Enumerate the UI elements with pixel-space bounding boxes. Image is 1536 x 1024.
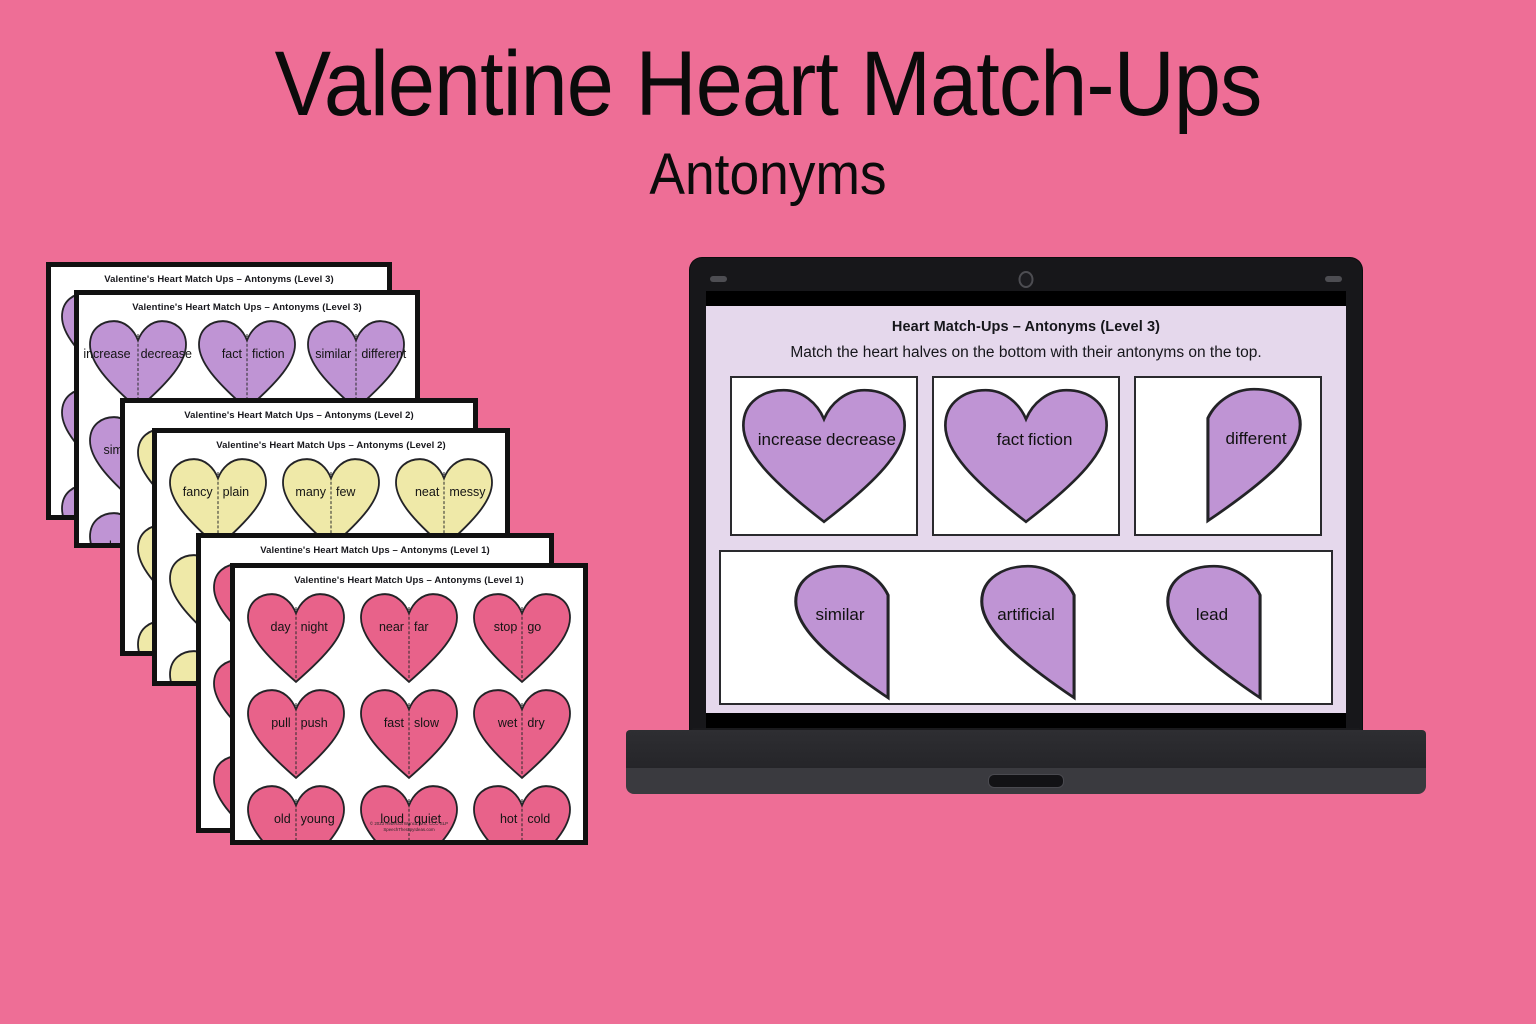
heart-word-left: fast bbox=[359, 716, 409, 730]
heart-word-left: many bbox=[281, 485, 331, 499]
heart-word-pair: increasedecrease bbox=[88, 347, 188, 361]
heart-word-left: fact bbox=[942, 430, 1026, 450]
heart-word-pair: manyfew bbox=[281, 485, 381, 499]
heart-word-left: stop bbox=[472, 620, 522, 634]
heart-word-right: go bbox=[522, 620, 572, 634]
heart-word-right: night bbox=[296, 620, 346, 634]
laptop-trackpad-notch[interactable] bbox=[988, 774, 1064, 788]
webcam-icon bbox=[1019, 271, 1034, 288]
screen-worksheet-title: Heart Match-Ups – Antonyms (Level 3) bbox=[706, 319, 1346, 335]
heart-word-pair: pullpush bbox=[246, 716, 346, 730]
heart-word-right: decrease bbox=[824, 430, 908, 450]
laptop-base bbox=[626, 730, 1426, 772]
heart-shape[interactable]: oldyoung bbox=[246, 784, 346, 845]
heart-word-pair: fancyplain bbox=[168, 485, 268, 499]
half-heart-shape-left-3[interactable]: lead bbox=[1162, 563, 1262, 701]
sheet-footer: © 2023 Rebecca Wanca, MS, CCC-SLP Speech… bbox=[235, 821, 583, 834]
heart-fold-line bbox=[522, 703, 523, 775]
heart-word-right: push bbox=[296, 716, 346, 730]
heart-word-pair: factfiction bbox=[197, 347, 297, 361]
heart-word-left: increase bbox=[740, 430, 824, 450]
match-card-full-1[interactable]: increase decrease bbox=[730, 376, 918, 536]
match-card-full-2[interactable]: fact fiction bbox=[932, 376, 1120, 536]
half-heart-shape-left-1[interactable]: similar bbox=[790, 563, 890, 701]
heart-word-right: far bbox=[409, 620, 459, 634]
screen-instructions: Match the heart halves on the bottom wit… bbox=[706, 344, 1346, 362]
sheet-title: Valentine's Heart Match Ups – Antonyms (… bbox=[125, 410, 473, 421]
match-card-half-right[interactable]: different bbox=[1134, 376, 1322, 536]
heart-shape[interactable]: wetdry bbox=[472, 688, 572, 780]
heart-word-right: fiction bbox=[247, 347, 297, 361]
sheet-title: Valentine's Heart Match Ups – Antonyms (… bbox=[157, 440, 505, 451]
heart-fold-line bbox=[295, 607, 296, 679]
heart-word-right: decrease bbox=[136, 347, 192, 361]
heart-shape[interactable]: stopgo bbox=[472, 592, 572, 684]
heart-icon bbox=[942, 387, 1110, 525]
heart-word-right: dry bbox=[522, 716, 572, 730]
heart-word-pair: increase decrease bbox=[740, 430, 908, 450]
heart-word-pair: daynight bbox=[246, 620, 346, 634]
heart-shape: fact fiction bbox=[942, 387, 1110, 525]
heart-word-left: fancy bbox=[168, 485, 218, 499]
half-heart-shape-left-2[interactable]: artificial bbox=[976, 563, 1076, 701]
heart-word-left: neat bbox=[394, 485, 444, 499]
laptop-mockup: Heart Match-Ups – Antonyms (Level 3) Mat… bbox=[626, 258, 1426, 818]
heart-word-left: fact bbox=[197, 347, 247, 361]
sheet-title: Valentine's Heart Match Ups – Antonyms (… bbox=[79, 302, 415, 313]
heart-shape[interactable]: pullpush bbox=[246, 688, 346, 780]
match-card-half-left-row[interactable]: similar artificial bbox=[719, 550, 1333, 705]
screen-footer-line1: © 2023 Rebecca Wanca, MS, CCC-SLP bbox=[706, 712, 1346, 713]
laptop-display-bezel: Heart Match-Ups – Antonyms (Level 3) Mat… bbox=[706, 291, 1346, 728]
heart-fold-line bbox=[408, 703, 409, 775]
heart-shape[interactable]: hotcold bbox=[472, 784, 572, 845]
poster-header: Valentine Heart Match-Ups Antonyms bbox=[0, 0, 1536, 204]
heart-word-right: few bbox=[331, 485, 381, 499]
heart-word-pair: similardifferent bbox=[306, 347, 406, 361]
heart-fold-line bbox=[137, 334, 138, 406]
page-subtitle: Antonyms bbox=[61, 146, 1474, 204]
heart-fold-line bbox=[246, 334, 247, 406]
heart-fold-line bbox=[295, 703, 296, 775]
poster-canvas: Valentine Heart Match-Ups Antonyms Valen… bbox=[0, 0, 1536, 1024]
sheet-title: Valentine's Heart Match Ups – Antonyms (… bbox=[201, 545, 549, 556]
heart-fold-line bbox=[356, 334, 357, 406]
sheet-footer-line2: SpeechTherapyIdeas.com bbox=[235, 827, 583, 834]
indicator-led-left-icon bbox=[710, 276, 727, 282]
heart-word-right: slow bbox=[409, 716, 459, 730]
half-heart-label: different bbox=[1206, 429, 1306, 449]
heart-shape[interactable]: loudquiet bbox=[359, 784, 459, 845]
heart-word-right: different bbox=[356, 347, 406, 361]
half-heart-label: artificial bbox=[976, 605, 1076, 625]
half-heart-left-icon bbox=[790, 563, 890, 701]
sheet-title: Valentine's Heart Match Ups – Antonyms (… bbox=[51, 274, 387, 285]
heart-word-left: pull bbox=[246, 716, 296, 730]
heart-word-left: near bbox=[359, 620, 409, 634]
half-heart-label: lead bbox=[1162, 605, 1262, 625]
half-heart-right-icon bbox=[1206, 386, 1306, 524]
heart-word-right: messy bbox=[444, 485, 494, 499]
heart-shape[interactable]: nearfar bbox=[359, 592, 459, 684]
heart-icon bbox=[740, 387, 908, 525]
heart-word-left: wet bbox=[472, 716, 522, 730]
heart-fold-line bbox=[522, 607, 523, 679]
half-heart-label: similar bbox=[790, 605, 890, 625]
heart-word-pair: fact fiction bbox=[942, 430, 1110, 450]
sheet-title: Valentine's Heart Match Ups – Antonyms (… bbox=[235, 575, 583, 586]
half-heart-left-icon bbox=[976, 563, 1076, 701]
indicator-led-right-icon bbox=[1325, 276, 1342, 282]
heart-word-pair: stopgo bbox=[472, 620, 572, 634]
laptop-screen[interactable]: Heart Match-Ups – Antonyms (Level 3) Mat… bbox=[706, 306, 1346, 713]
laptop-lid: Heart Match-Ups – Antonyms (Level 3) Mat… bbox=[690, 258, 1362, 740]
heart-fold-line bbox=[408, 607, 409, 679]
page-title: Valentine Heart Match-Ups bbox=[61, 38, 1474, 130]
heart-word-left: similar bbox=[306, 347, 356, 361]
heart-word-pair: fastslow bbox=[359, 716, 459, 730]
heart-word-pair: wetdry bbox=[472, 716, 572, 730]
sheet-heart-grid: daynightnearfarstopgopullpushfastslowwet… bbox=[235, 592, 583, 845]
worksheet-sheet-pink-front[interactable]: Valentine's Heart Match Ups – Antonyms (… bbox=[230, 563, 588, 845]
screen-bottom-card-row: similar artificial bbox=[706, 550, 1346, 705]
heart-word-right: plain bbox=[218, 485, 268, 499]
sheet-footer-line1: © 2023 Rebecca Wanca, MS, CCC-SLP bbox=[235, 821, 583, 828]
heart-word-right: fiction bbox=[1026, 430, 1110, 450]
screen-footer: © 2023 Rebecca Wanca, MS, CCC-SLP Speech… bbox=[706, 712, 1346, 713]
heart-word-left: day bbox=[246, 620, 296, 634]
heart-shape[interactable]: daynight bbox=[246, 592, 346, 684]
screen-top-card-row: increase decrease fa bbox=[706, 376, 1346, 536]
heart-word-left: increase bbox=[83, 347, 135, 361]
heart-shape: increase decrease bbox=[740, 387, 908, 525]
half-heart-shape-right: different bbox=[1206, 386, 1306, 524]
half-heart-left-icon bbox=[1162, 563, 1262, 701]
heart-shape[interactable]: fastslow bbox=[359, 688, 459, 780]
heart-word-pair: nearfar bbox=[359, 620, 459, 634]
heart-word-pair: neatmessy bbox=[394, 485, 494, 499]
